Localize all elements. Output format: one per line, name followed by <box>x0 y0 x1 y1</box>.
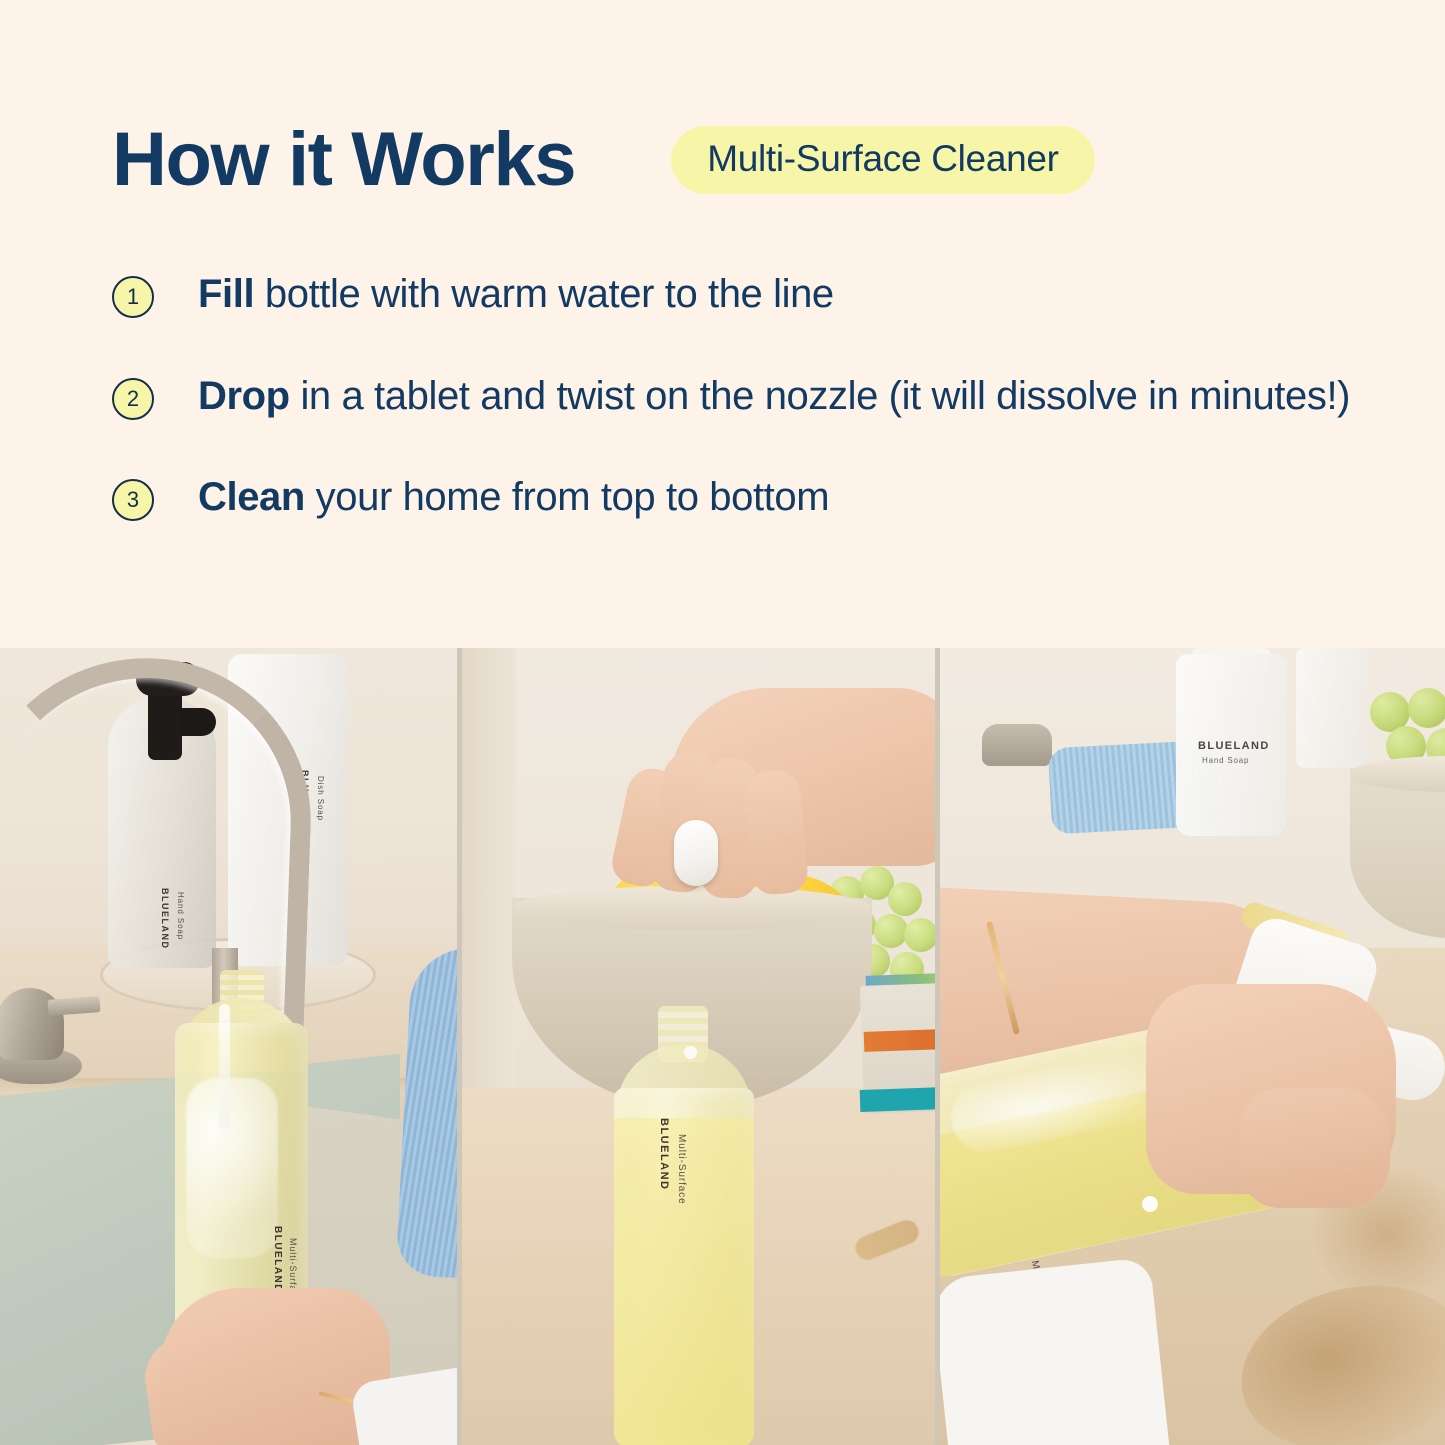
step-item: 2 Drop in a tablet and twist on the nozz… <box>112 370 1362 424</box>
multi-surface-brand-label: BLUELAND <box>272 1226 283 1293</box>
multi-surface-brand-label: BLUELAND <box>658 1118 670 1191</box>
step-item: 3 Clean your home from top to bottom <box>112 471 1362 525</box>
fingers <box>1240 1088 1390 1208</box>
grape <box>904 918 935 952</box>
product-badge: Multi-Surface Cleaner <box>671 126 1095 195</box>
step-item: 1 Fill bottle with warm water to the lin… <box>112 268 1362 322</box>
steps-list: 1 Fill bottle with warm water to the lin… <box>112 268 1362 573</box>
multi-surface-variant-label: Multi-Surface <box>676 1134 687 1205</box>
photo-panel-drop: BLUELAND Multi-Surface <box>462 648 935 1445</box>
bowl-rim <box>512 886 872 930</box>
step-keyword: Drop <box>198 374 290 418</box>
photo-panel-fill: BLUELAND Hand Soap BLUELAND Dish Soap BL… <box>0 648 457 1445</box>
photo-strip: BLUELAND Hand Soap BLUELAND Dish Soap BL… <box>0 648 1445 1445</box>
faucet-knob <box>982 724 1052 766</box>
step-number-badge: 3 <box>112 479 154 521</box>
step-keyword: Clean <box>198 475 305 519</box>
grape <box>888 882 922 916</box>
water-stream <box>219 1004 230 1129</box>
hand-soap-variant-label: Hand Soap <box>1202 756 1249 765</box>
dish-soap-variant-label: Dish Soap <box>316 776 325 821</box>
step-number-badge: 1 <box>112 276 154 318</box>
step-keyword: Fill <box>198 272 254 316</box>
hand-soap-brand-label: BLUELAND <box>1198 740 1270 752</box>
grape <box>874 914 908 948</box>
header-section: How it Works Multi-Surface Cleaner 1 Fil… <box>0 0 1445 648</box>
step-text: Fill bottle with warm water to the line <box>198 268 834 322</box>
step-text: Clean your home from top to bottom <box>198 471 829 525</box>
photo-panel-clean: BLUELAND Hand Soap BLUELAND M <box>940 648 1445 1445</box>
title-row: How it Works Multi-Surface Cleaner <box>112 112 1352 208</box>
infographic-page: How it Works Multi-Surface Cleaner 1 Fil… <box>0 0 1445 1445</box>
cleaning-tablet <box>674 820 718 886</box>
step-description: bottle with warm water to the line <box>254 272 834 316</box>
finger <box>743 768 810 896</box>
step-number-badge: 2 <box>112 378 154 420</box>
white-sleeve <box>940 1257 1169 1445</box>
water-turbulence <box>186 1078 278 1258</box>
book-teal-edge <box>860 1086 935 1112</box>
book-orange-edge <box>864 1028 935 1052</box>
page-title: How it Works <box>112 112 575 208</box>
step-text: Drop in a tablet and twist on the nozzle… <box>198 370 1350 424</box>
step-description: your home from top to bottom <box>305 475 829 519</box>
grape <box>1408 688 1445 728</box>
step-description: in a tablet and twist on the nozzle (it … <box>290 374 1350 418</box>
background-bottle <box>1296 648 1368 768</box>
wall-corner <box>462 648 516 1118</box>
bottle-fill-line-dot <box>1142 1196 1158 1212</box>
bottle-fill-line-dot <box>684 1046 697 1059</box>
